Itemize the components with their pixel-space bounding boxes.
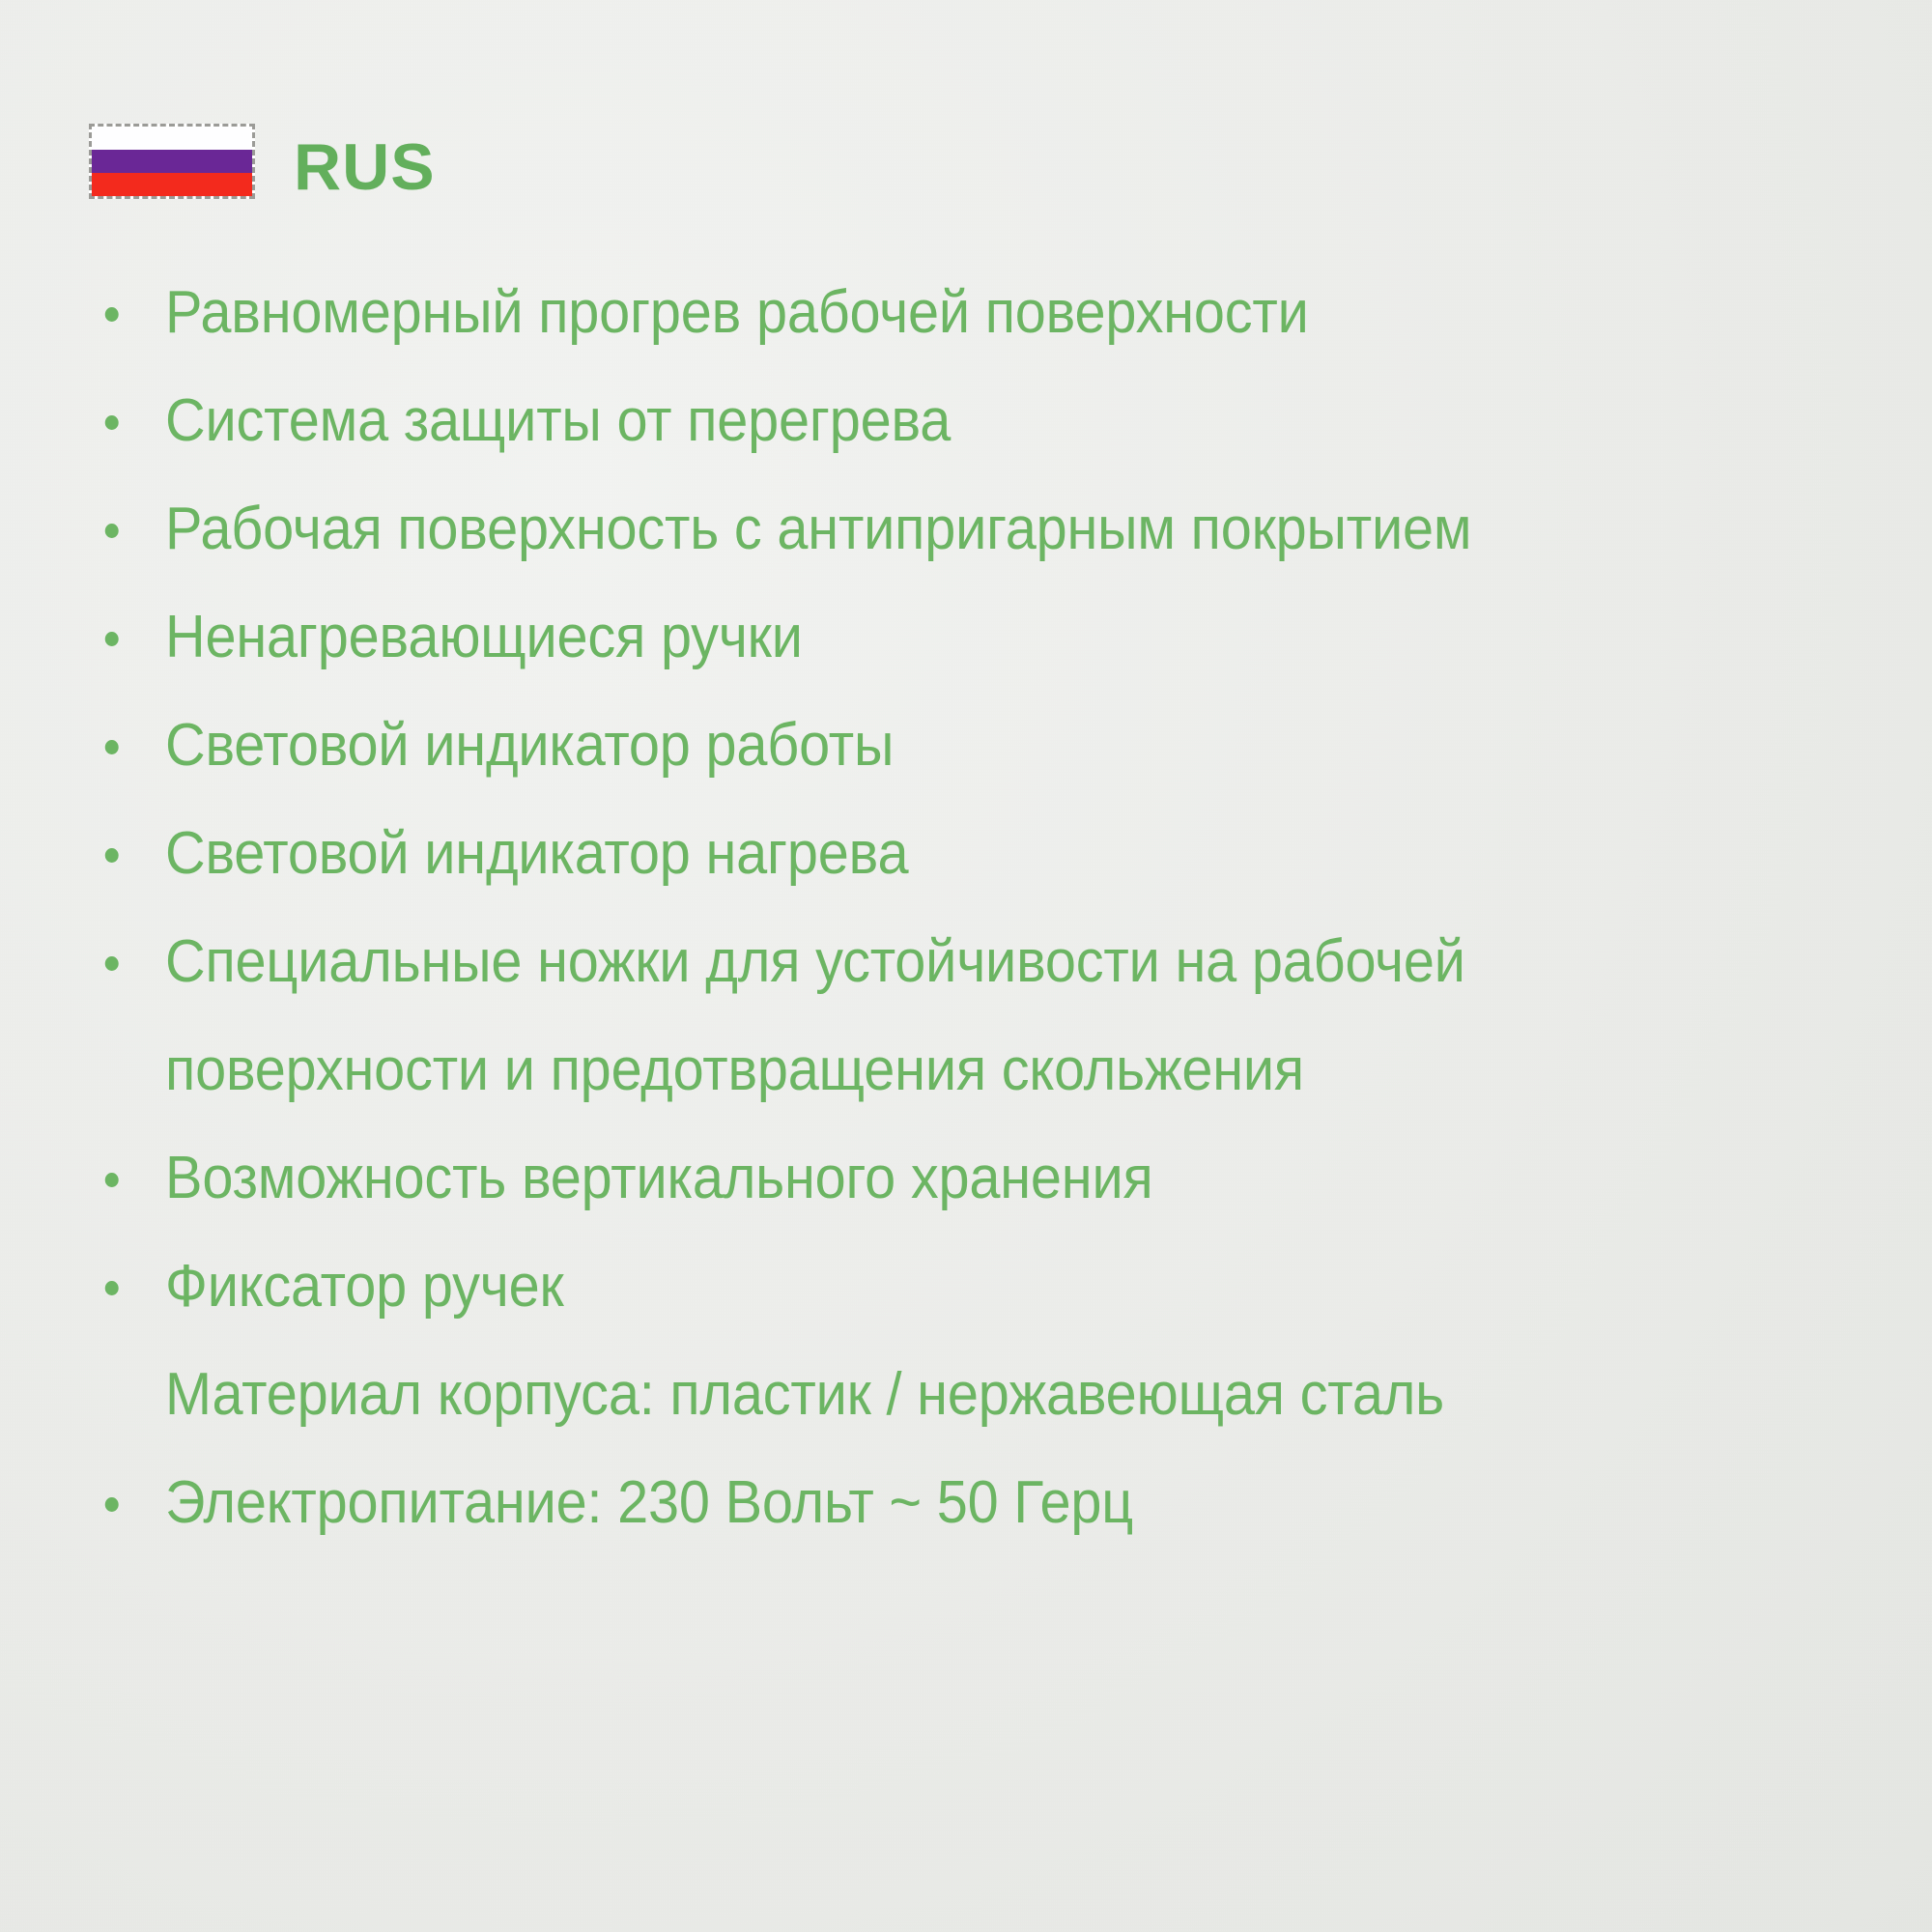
bullet-icon	[105, 956, 119, 971]
feature-text: Фиксатор ручек	[165, 1233, 1733, 1341]
feature-text: Равномерный прогрев рабочей поверхности	[165, 259, 1733, 367]
feature-list-item: Световой индикатор нагрева	[89, 800, 1733, 908]
language-code-label: RUS	[294, 134, 436, 200]
feature-text: Рабочая поверхность с антипригарным покр…	[165, 475, 1733, 583]
feature-text: Ненагревающиеся ручки	[165, 583, 1733, 692]
bullet-icon	[105, 1281, 119, 1295]
feature-text: Световой индикатор работы	[165, 692, 1733, 800]
feature-list-item: Фиксатор ручек	[89, 1233, 1733, 1341]
bullet-icon	[105, 307, 119, 322]
feature-list-item: Возможность вертикального хранения	[89, 1124, 1733, 1233]
feature-list-item: Система защиты от перегрева	[89, 367, 1733, 475]
feature-text: Световой индикатор нагрева	[165, 800, 1733, 908]
feature-list-item: Световой индикатор работы	[89, 692, 1733, 800]
feature-list-item: Равномерный прогрев рабочей поверхности	[89, 259, 1733, 367]
feature-list-item: Специальные ножки для устойчивости на ра…	[89, 908, 1733, 1124]
feature-text: Электропитание: 230 Вольт ~ 50 Герц	[165, 1449, 1733, 1557]
bullet-icon	[105, 415, 119, 430]
bullet-icon	[105, 848, 119, 863]
feature-list: Равномерный прогрев рабочей поверхности …	[89, 259, 1857, 1557]
feature-list-item: Рабочая поверхность с антипригарным покр…	[89, 475, 1733, 583]
language-header: RUS	[89, 124, 436, 199]
feature-list-item: Ненагревающиеся ручки	[89, 583, 1733, 692]
feature-text: Возможность вертикального хранения	[165, 1124, 1733, 1233]
flag-stripe-blue	[92, 150, 252, 173]
bullet-icon	[105, 1497, 119, 1512]
russia-flag-icon	[89, 124, 255, 199]
feature-list-item-material: Материал корпуса: пластик / нержавеющая …	[89, 1341, 1733, 1449]
product-feature-panel: RUS Равномерный прогрев рабочей поверхно…	[0, 0, 1932, 1932]
bullet-icon	[105, 632, 119, 646]
feature-text: Материал корпуса: пластик / нержавеющая …	[165, 1341, 1733, 1449]
feature-text: Специальные ножки для устойчивости на ра…	[165, 908, 1733, 1124]
bullet-icon	[105, 524, 119, 538]
bullet-icon	[105, 740, 119, 754]
feature-text: Система защиты от перегрева	[165, 367, 1733, 475]
bullet-icon	[105, 1173, 119, 1187]
feature-list-item-power: Электропитание: 230 Вольт ~ 50 Герц	[89, 1449, 1733, 1557]
flag-stripe-red	[92, 173, 252, 196]
flag-stripe-white	[92, 127, 252, 150]
